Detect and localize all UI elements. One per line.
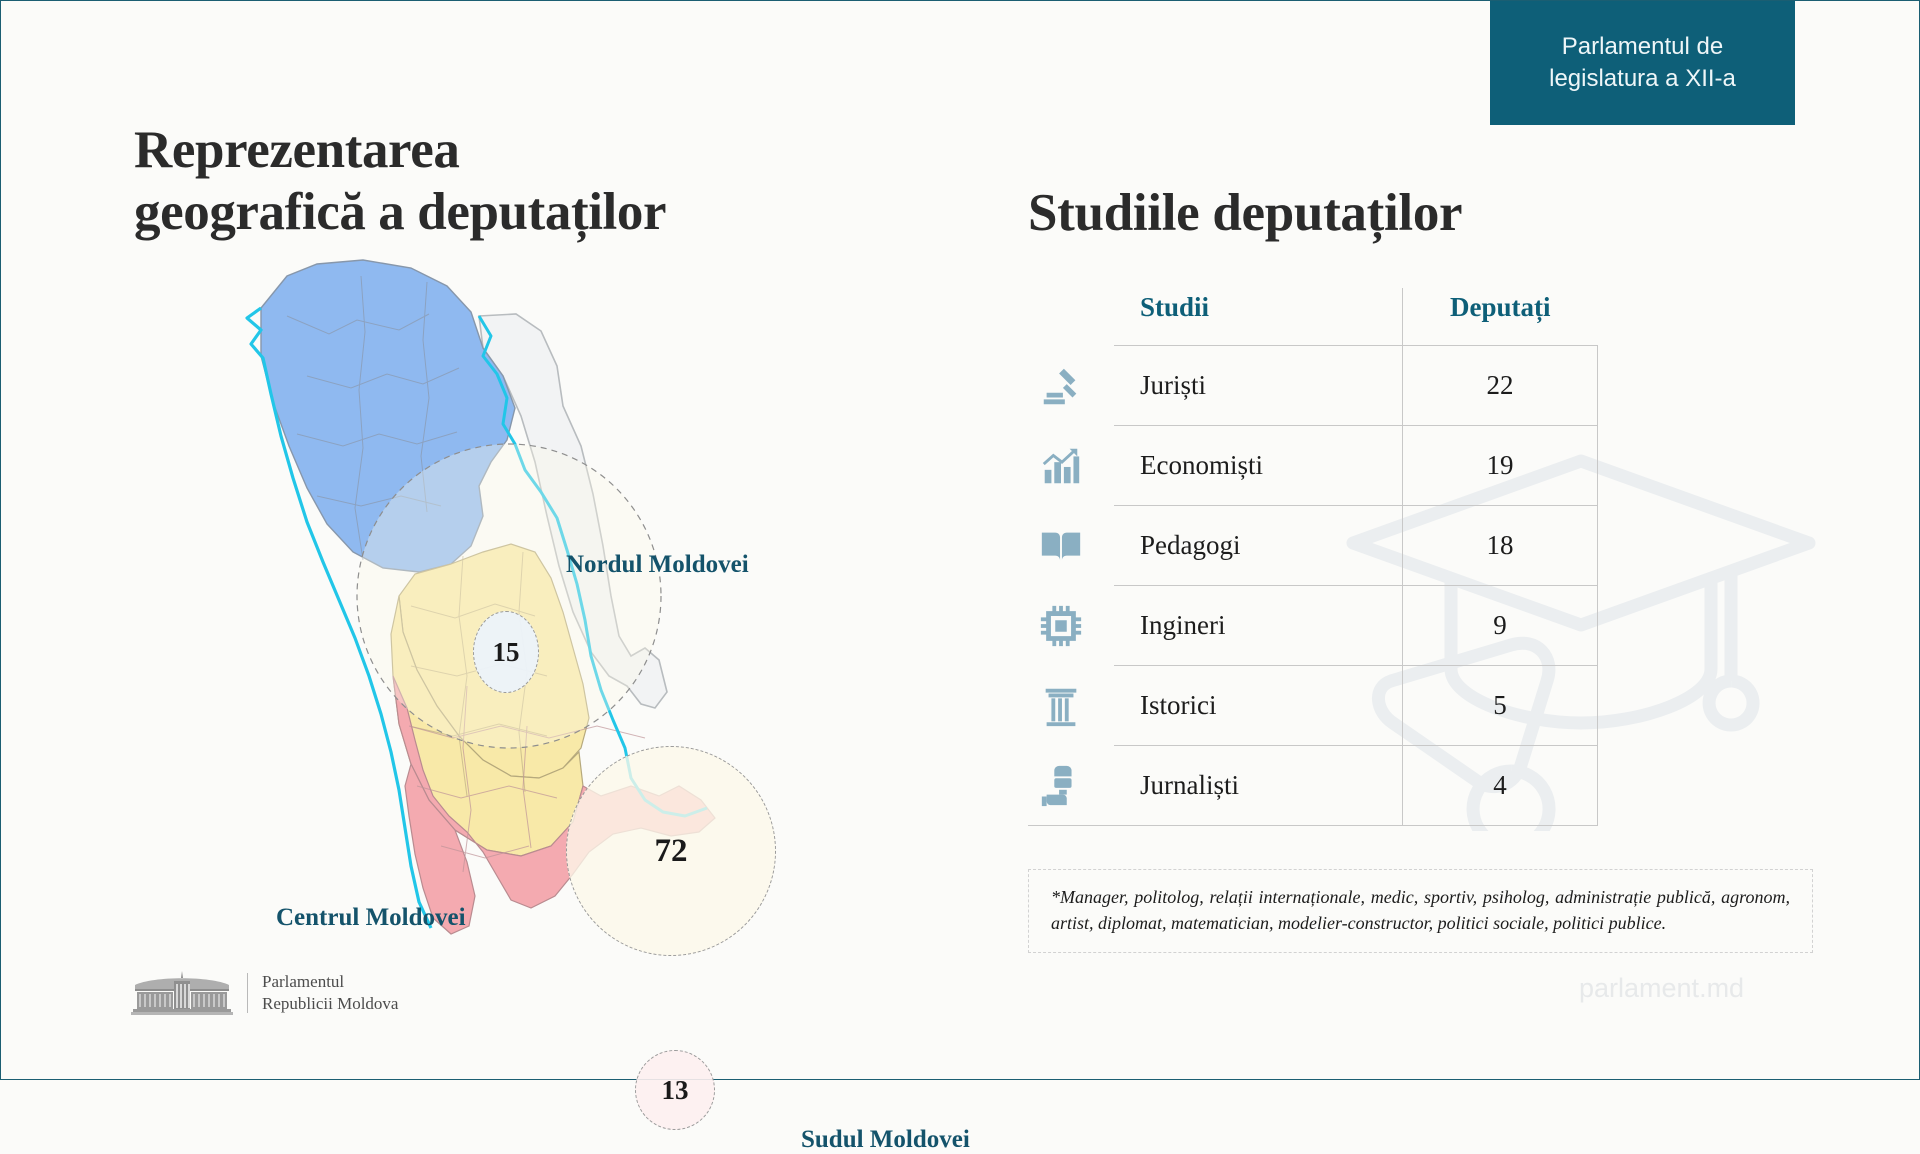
table-header-deputati: Deputați [1403, 288, 1598, 346]
studies-table: Studii Deputați Juriști 22 Economiști 19 [1028, 288, 1598, 826]
bar-chart-icon [1028, 426, 1114, 506]
map-label-sudul-moldovei: Sudul Moldovei [801, 1126, 970, 1154]
table-row: Juriști 22 [1028, 346, 1598, 426]
table-row: Economiști 19 [1028, 426, 1598, 506]
study-name: Istorici [1114, 666, 1403, 746]
column-icon [1028, 666, 1114, 746]
study-name: Juriști [1114, 346, 1403, 426]
table-header-icon-col [1028, 288, 1114, 346]
study-count: 19 [1403, 426, 1598, 506]
study-count: 22 [1403, 346, 1598, 426]
study-name: Pedagogi [1114, 506, 1403, 586]
open-book-icon [1028, 506, 1114, 586]
moldova-map: Nordul Moldovei Centrul Moldovei Sudul M… [111, 256, 901, 936]
microchip-icon [1028, 586, 1114, 666]
footnote-text: *Manager, politolog, relații internațion… [1028, 869, 1813, 953]
table-row: Jurnaliști 4 [1028, 746, 1598, 826]
studies-table-wrap: Studii Deputați Juriști 22 Economiști 19 [1028, 288, 1728, 826]
table-row: Istorici 5 [1028, 666, 1598, 746]
left-title-line2: geografică a deputaților [134, 181, 954, 243]
table-header-row: Studii Deputați [1028, 288, 1598, 346]
left-panel-title: Reprezentarea geografică a deputaților [134, 119, 954, 243]
study-count: 18 [1403, 506, 1598, 586]
map-value-north: 15 [473, 611, 539, 693]
study-count: 9 [1403, 586, 1598, 666]
header-badge-line2: legislatura a XII-a [1549, 63, 1736, 95]
study-name: Ingineri [1114, 586, 1403, 666]
map-label-centrul-moldovei: Centrul Moldovei [276, 904, 466, 932]
header-badge: Parlamentul de legislatura a XII-a [1490, 1, 1795, 125]
logo-divider [247, 973, 248, 1013]
header-badge-line1: Parlamentul de [1562, 31, 1723, 63]
logo-line1: Parlamentul [262, 971, 398, 993]
study-count: 5 [1403, 666, 1598, 746]
left-title-line1: Reprezentarea [134, 119, 954, 181]
gavel-icon [1028, 346, 1114, 426]
logo-line2: Republicii Moldova [262, 993, 398, 1015]
table-row: Pedagogi 18 [1028, 506, 1598, 586]
map-center-circle [357, 444, 661, 748]
parliament-logo: Parlamentul Republicii Moldova [131, 969, 398, 1017]
study-name: Jurnaliști [1114, 746, 1403, 826]
table-header-studii: Studii [1114, 288, 1403, 346]
study-name: Economiști [1114, 426, 1403, 506]
study-count: 4 [1403, 746, 1598, 826]
right-panel-title: Studiile deputaților [1028, 183, 1462, 243]
microphone-icon [1028, 746, 1114, 826]
map-value-south: 13 [635, 1050, 715, 1130]
table-row: Ingineri 9 [1028, 586, 1598, 666]
map-svg [111, 256, 901, 936]
logo-text: Parlamentul Republicii Moldova [262, 971, 398, 1015]
parliament-building-icon [131, 969, 233, 1017]
map-value-center: 72 [566, 746, 776, 956]
site-watermark: parlament.md [1579, 973, 1744, 1004]
map-label-nordul-moldovei: Nordul Moldovei [566, 551, 749, 579]
